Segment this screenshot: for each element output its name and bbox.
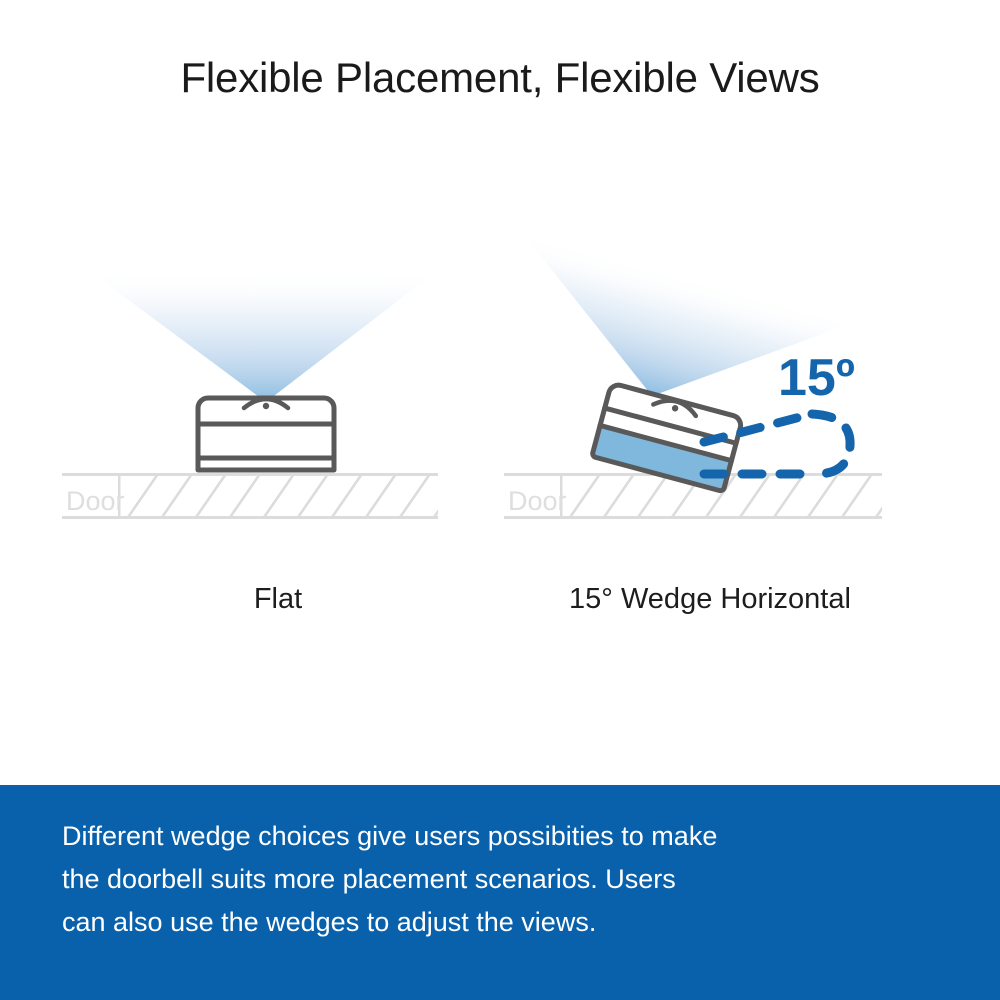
product-feature-graphic: Flexible Placement, Flexible Views	[0, 0, 1000, 1000]
door-label-wedge: Door	[508, 486, 567, 516]
page-title: Flexible Placement, Flexible Views	[0, 54, 1000, 102]
diagram-area: Door	[0, 170, 1000, 650]
caption-wedge: 15° Wedge Horizontal	[538, 583, 882, 616]
caption-flat: Flat	[128, 583, 428, 616]
banner-description: Different wedge choices give users possi…	[62, 815, 722, 944]
diagram-wedge: Door	[492, 170, 952, 650]
door-surface: Door	[62, 468, 468, 526]
doorbell-device-flat	[198, 398, 334, 470]
diagram-flat: Door	[48, 170, 508, 650]
field-of-view-beam	[88, 270, 438, 402]
angle-label: 15º	[778, 349, 855, 407]
door-label-flat: Door	[66, 486, 125, 516]
bottom-banner: Different wedge choices give users possi…	[0, 785, 1000, 1000]
